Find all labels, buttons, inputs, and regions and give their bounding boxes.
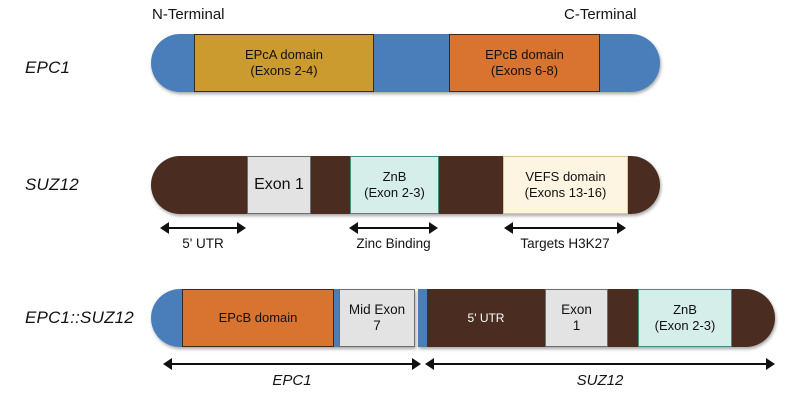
diagram-canvas: N-Terminal C-Terminal EPC1 EPcA domain (… [0, 0, 788, 407]
segment-epca-domain: EPcA domain (Exons 2-4) [194, 34, 374, 92]
segment-label-line1: EPcB domain [219, 310, 298, 326]
arrow-caption: SUZ12 [425, 372, 775, 389]
segment-znb-domain: ZnB (Exon 2-3) [638, 289, 732, 347]
segment-c-term-blue [600, 34, 660, 92]
n-terminal-label: N-Terminal [152, 6, 225, 23]
segment-znb-domain: ZnB (Exon 2-3) [350, 156, 439, 214]
segment-label-line1: Mid Exon [349, 302, 405, 318]
segment-label-line1: ZnB [383, 169, 407, 185]
arrow-caption: Targets H3K27 [504, 236, 626, 251]
segment-epcb-domain: EPcB domain (Exons 6-8) [449, 34, 600, 92]
arrow-caption: Zinc Binding [349, 236, 438, 251]
segment-spacer-brown-2 [439, 156, 503, 214]
segment-tail-brown [628, 156, 660, 214]
segment-label-line1: Exon [561, 302, 592, 318]
arrow-line [432, 363, 768, 365]
segment-label-line1: Exon 1 [254, 177, 304, 193]
segment-label-line1: EPcB domain [485, 47, 564, 63]
segment-linker-blue [374, 34, 449, 92]
c-terminal-label: C-Terminal [564, 6, 637, 23]
segment-vefs-domain: VEFS domain (Exons 13-16) [503, 156, 628, 214]
segment-label-line2: (Exons 6-8) [491, 63, 558, 79]
protein-bar-epc1: EPcA domain (Exons 2-4) EPcB domain (Exo… [151, 34, 660, 92]
arrow-head-right-icon [237, 222, 246, 234]
arrow-line [170, 363, 414, 365]
segment-label-line2: (Exon 2-3) [655, 318, 716, 334]
arrow-zinc-binding: Zinc Binding [349, 221, 438, 235]
segment-label-line2: (Exons 2-4) [250, 63, 317, 79]
row-label-suz12: SUZ12 [25, 175, 79, 195]
arrow-line [511, 227, 619, 229]
segment-exon-1: Exon 1 [545, 289, 608, 347]
segment-label-line2: (Exon 2-3) [364, 185, 425, 201]
arrow-epc1-span: EPC1 [163, 357, 421, 371]
segment-label-line2: 7 [373, 318, 381, 334]
segment-tail-brown [732, 289, 775, 347]
row-label-epc1: EPC1 [25, 58, 70, 78]
segment-label-line1: ZnB [673, 302, 697, 318]
segment-n-term-blue [151, 289, 182, 347]
segment-n-term-blue [151, 34, 194, 92]
arrow-head-right-icon [429, 222, 438, 234]
segment-label-line2: 1 [573, 318, 581, 334]
segment-mid-exon-7: Mid Exon 7 [339, 289, 415, 347]
segment-label-line2: (Exons 13-16) [525, 185, 607, 201]
segment-spacer-brown-1 [311, 156, 350, 214]
arrow-caption: EPC1 [163, 372, 421, 389]
arrow-5utr: 5' UTR [160, 221, 246, 235]
segment-utr5-brown: 5' UTR [427, 289, 545, 347]
segment-utr5-brown [151, 156, 247, 214]
arrow-head-right-icon [766, 358, 775, 370]
arrow-line [167, 227, 239, 229]
segment-spacer-brown [608, 289, 638, 347]
segment-label-line1: VEFS domain [525, 169, 605, 185]
arrow-suz12-span: SUZ12 [425, 357, 775, 371]
segment-label-line1: 5' UTR [468, 310, 505, 326]
protein-bar-suz12: Exon 1 ZnB (Exon 2-3) VEFS domain (Exons… [151, 156, 660, 214]
arrow-caption: 5' UTR [160, 236, 246, 251]
arrow-head-right-icon [617, 222, 626, 234]
protein-bar-epc1-suz12: EPcB domain Mid Exon 7 5' UTR Exon 1 ZnB… [151, 289, 775, 347]
segment-exon-1: Exon 1 [247, 156, 311, 214]
arrow-line [356, 227, 431, 229]
row-label-epc1-suz12: EPC1::SUZ12 [25, 308, 134, 328]
segment-thin-blue-2 [418, 289, 427, 347]
arrow-head-right-icon [412, 358, 421, 370]
segment-label-line1: EPcA domain [245, 47, 323, 63]
segment-epcb-domain: EPcB domain [182, 289, 334, 347]
arrow-targets-h3k27: Targets H3K27 [504, 221, 626, 235]
